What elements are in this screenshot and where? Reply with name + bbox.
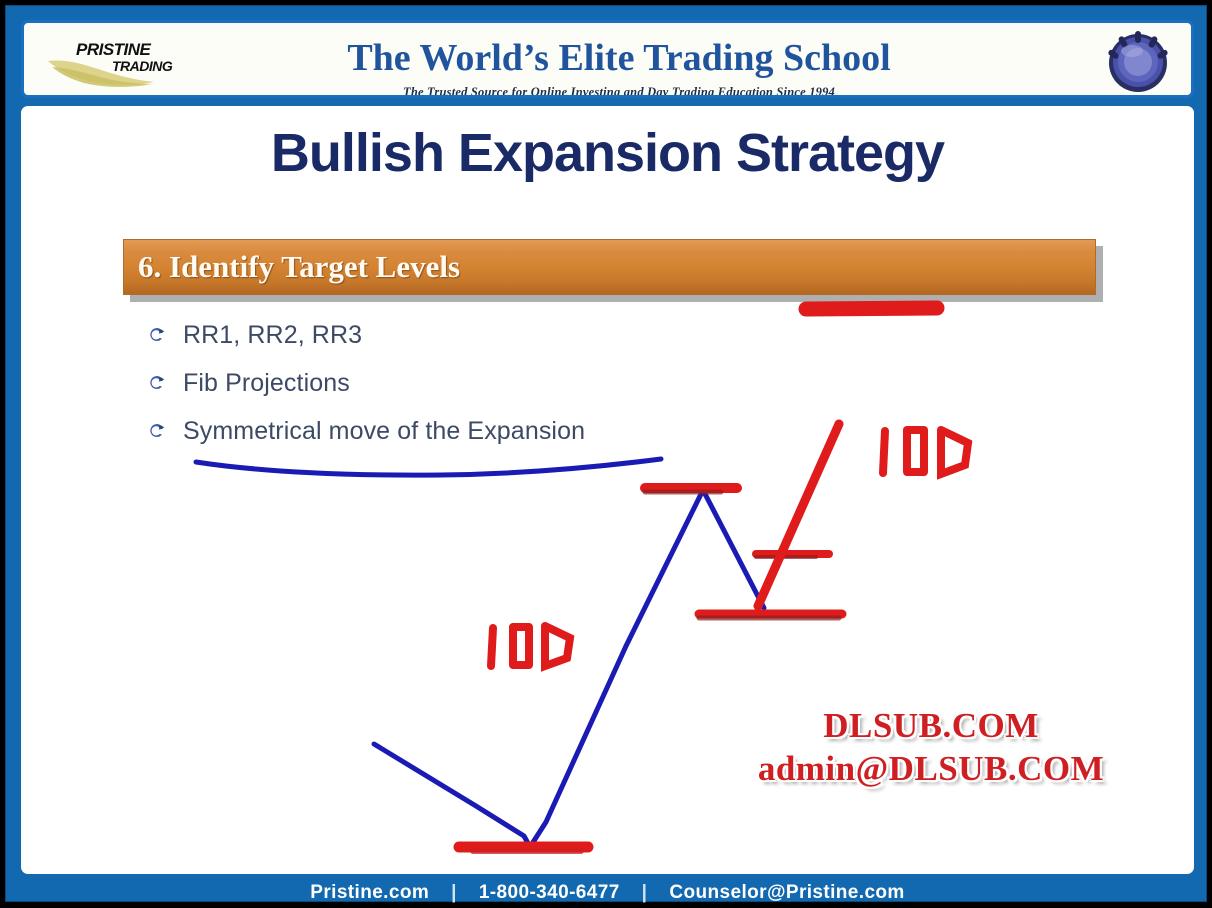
- list-item: RR1, RR2, RR3: [143, 311, 903, 359]
- header-title: The World’s Elite Trading School: [224, 39, 1014, 77]
- footer-bar: Pristine.com | 1-800-340-6477 | Counselo…: [21, 878, 1194, 908]
- slide-root: PRISTINE TRADING The World’s Elite Tradi…: [0, 0, 1212, 907]
- bullet-underline-stroke: [196, 459, 661, 475]
- section-header-bar: 6. Identify Target Levels: [123, 239, 1108, 303]
- footer-phone[interactable]: 1-800-340-6477: [479, 882, 620, 904]
- logo-line-1: PRISTINE: [68, 41, 218, 58]
- section-bar-fill: 6. Identify Target Levels: [123, 239, 1096, 295]
- slide-body-panel: Bullish Expansion Strategy 6. Identify T…: [21, 106, 1194, 874]
- watermark-line-2: admin@DLSUB.COM: [681, 749, 1181, 788]
- header-subtitle: The Trusted Source for Online Investing …: [224, 85, 1014, 98]
- pristine-seal-icon: [1105, 29, 1171, 95]
- price-path-stroke: [374, 490, 764, 847]
- site-watermark: DLSUB.COM admin@DLSUB.COM: [681, 706, 1181, 788]
- logo-line-2: TRADING: [68, 59, 218, 73]
- section-bar-label: 6. Identify Target Levels: [124, 249, 460, 285]
- bullet-label: Fib Projections: [171, 369, 350, 398]
- swirl-bullet-icon: [143, 323, 171, 347]
- footer-email[interactable]: Counselor@Pristine.com: [669, 882, 904, 904]
- list-item: Fib Projections: [143, 359, 903, 407]
- bullet-label: RR1, RR2, RR3: [171, 321, 362, 350]
- measure-label-lower: [491, 626, 570, 666]
- swirl-bullet-icon: [143, 371, 171, 395]
- bullet-list: RR1, RR2, RR3 Fib Projections: [143, 311, 903, 455]
- swirl-bullet-icon: [143, 419, 171, 443]
- pristine-trading-logo: PRISTINE TRADING: [46, 33, 221, 91]
- page-title: Bullish Expansion Strategy: [21, 122, 1194, 184]
- footer-website[interactable]: Pristine.com: [310, 882, 429, 904]
- logo-wordmark: PRISTINE TRADING: [68, 41, 218, 83]
- watermark-line-1: DLSUB.COM: [681, 706, 1181, 745]
- footer-contact-row: Pristine.com | 1-800-340-6477 | Counselo…: [310, 882, 904, 904]
- header-panel: PRISTINE TRADING The World’s Elite Tradi…: [21, 20, 1194, 98]
- bullet-label: Symmetrical move of the Expansion: [171, 417, 585, 446]
- footer-separator-2: |: [620, 882, 670, 904]
- footer-separator-1: |: [429, 882, 479, 904]
- slide-blue-frame: PRISTINE TRADING The World’s Elite Tradi…: [5, 5, 1207, 902]
- highlight-stroke-top: [806, 308, 937, 309]
- list-item: Symmetrical move of the Expansion: [143, 407, 903, 455]
